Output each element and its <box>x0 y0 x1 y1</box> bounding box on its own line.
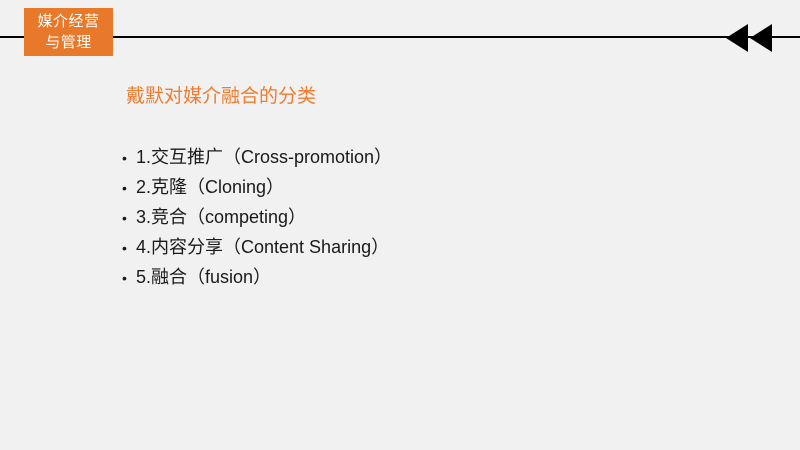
list-item: • 5.融合（fusion） <box>122 262 392 292</box>
list-item-label: 5.融合（fusion） <box>136 262 271 292</box>
bullet-dot-icon: • <box>122 203 136 233</box>
list-item-label: 1.交互推广（Cross-promotion） <box>136 142 392 172</box>
course-title-badge: 媒介经营 与管理 <box>24 8 113 56</box>
header-divider-rule <box>0 36 800 38</box>
bullet-dot-icon: • <box>122 143 136 173</box>
rewind-double-left-icon[interactable] <box>726 24 774 52</box>
course-title-line-1: 媒介经营 <box>37 11 99 32</box>
bullet-dot-icon: • <box>122 233 136 263</box>
bullet-dot-icon: • <box>122 263 136 293</box>
bullet-dot-icon: • <box>122 173 136 203</box>
list-item: • 4.内容分享（Content Sharing） <box>122 232 392 262</box>
list-item: • 2.克隆（Cloning） <box>122 172 392 202</box>
list-item-label: 3.竞合（competing） <box>136 202 306 232</box>
list-item-label: 2.克隆（Cloning） <box>136 172 284 202</box>
list-item: • 1.交互推广（Cross-promotion） <box>122 142 392 172</box>
classification-bullet-list: • 1.交互推广（Cross-promotion） • 2.克隆（Cloning… <box>122 142 392 292</box>
list-item: • 3.竞合（competing） <box>122 202 392 232</box>
page-title: 戴默对媒介融合的分类 <box>126 85 316 109</box>
list-item-label: 4.内容分享（Content Sharing） <box>136 232 389 262</box>
course-title-line-2: 与管理 <box>45 32 92 53</box>
slide-canvas: 媒介经营 与管理 戴默对媒介融合的分类 • 1.交互推广（Cross-promo… <box>0 0 800 450</box>
